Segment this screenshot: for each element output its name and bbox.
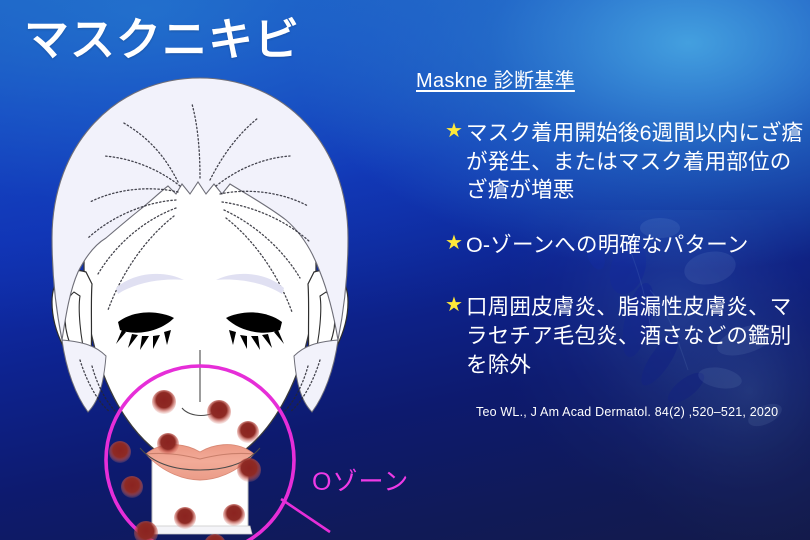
citation-text: Teo WL., J Am Acad Dermatol. 84(2) ,520–…: [476, 405, 804, 419]
acne-spot: [237, 458, 261, 482]
star-icon: ★: [445, 118, 463, 145]
criteria-bullet-3: ★口周囲皮膚炎、脂漏性皮膚炎、マラセチア毛包炎、酒さなどの鑑別を除外: [446, 293, 804, 379]
ozone-label: Oゾーン: [312, 462, 409, 498]
criteria-bullet-1: ★マスク着用開始後6週間以内にざ瘡が発生、またはマスク着用部位のざ瘡が増悪: [446, 119, 804, 205]
criteria-bullet-3-text: 口周囲皮膚炎、脂漏性皮膚炎、マラセチア毛包炎、酒さなどの鑑別を除外: [466, 295, 792, 376]
star-icon: ★: [445, 292, 463, 319]
slide-canvas: マスクニキビ: [0, 0, 810, 540]
criteria-heading: Maskne 診断基準: [416, 64, 804, 93]
acne-spot: [207, 400, 231, 424]
acne-spot: [152, 390, 176, 414]
acne-spot: [223, 504, 245, 526]
acne-spot: [204, 534, 226, 540]
acne-spot: [121, 476, 143, 498]
star-icon: ★: [445, 230, 463, 257]
ozone-leader-line: [281, 499, 330, 532]
criteria-bullet-2: ★O-ゾーンへの明確なパターン: [446, 231, 804, 260]
criteria-bullet-1-text: マスク着用開始後6週間以内にざ瘡が発生、またはマスク着用部位のざ瘡が増悪: [466, 121, 803, 202]
acne-spot: [157, 433, 179, 455]
acne-spot: [237, 421, 259, 443]
criteria-bullet-2-text: O-ゾーンへの明確なパターン: [466, 233, 749, 257]
page-title: マスクニキビ: [24, 14, 300, 66]
acne-spot: [174, 507, 196, 529]
acne-spot: [109, 441, 131, 463]
criteria-panel: Maskne 診断基準 ★マスク着用開始後6週間以内にざ瘡が発生、またはマスク着…: [404, 64, 804, 419]
criteria-bullet-list: ★マスク着用開始後6週間以内にざ瘡が発生、またはマスク着用部位のざ瘡が増悪 ★O…: [446, 119, 804, 419]
